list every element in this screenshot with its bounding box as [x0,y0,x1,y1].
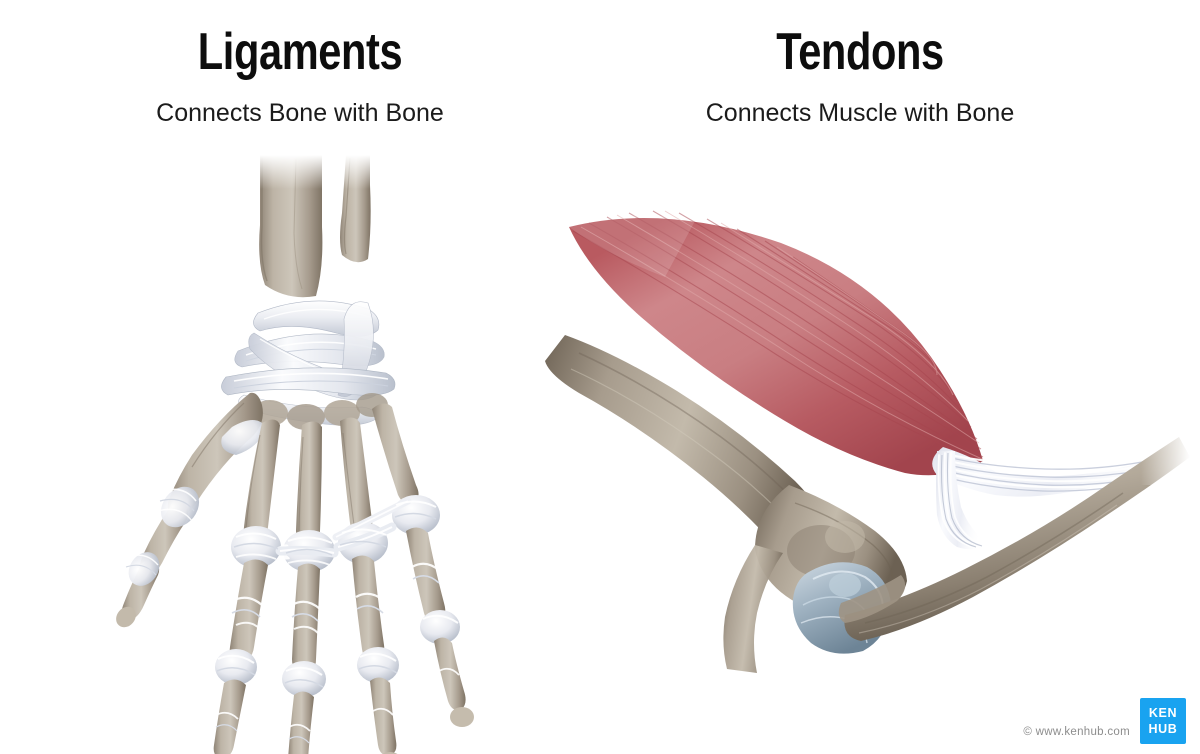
illustration-muscle-tendon [545,185,1190,685]
muscle-belly [569,211,983,475]
page-subtitle-ligaments: Connects Bone with Bone [40,96,560,130]
page-title-tendons: Tendons [652,22,1068,82]
forearm-bones [250,155,385,297]
illustration-hand-ligaments [110,155,490,735]
humerus-lower-shaft [715,545,783,685]
infographic-canvas: Ligaments Connects Bone with Bone Tendon… [0,0,1200,754]
kenhub-logo[interactable]: KEN HUB [1140,698,1186,744]
panel-heading-tendons: Tendons Connects Muscle with Bone [600,22,1120,130]
page-title-ligaments: Ligaments [92,22,508,82]
copyright-text: © www.kenhub.com [1023,726,1130,738]
page-subtitle-tendons: Connects Muscle with Bone [600,96,1120,130]
logo-text-ken: KEN [1149,707,1177,720]
logo-text-hub: HUB [1149,723,1178,736]
panel-heading-ligaments: Ligaments Connects Bone with Bone [40,22,560,130]
